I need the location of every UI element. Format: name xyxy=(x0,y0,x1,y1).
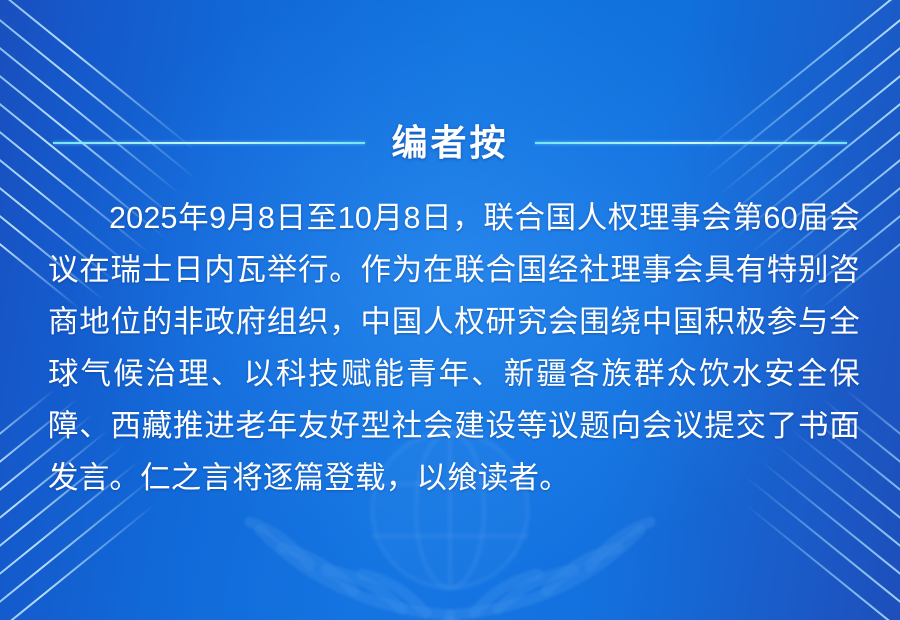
page-title: 编者按 xyxy=(391,125,508,161)
title-rule-left xyxy=(53,142,365,144)
body-paragraph: 2025年9月8日至10月8日，联合国人权理事会第60届会议在瑞士日内瓦举行。作… xyxy=(48,192,860,504)
corner-streaks-top-left xyxy=(0,0,340,210)
poster-header: 编者按 xyxy=(0,112,900,174)
editors-note-poster: 编者按 2025年9月8日至10月8日，联合国人权理事会第60届会议在瑞士日内瓦… xyxy=(0,0,900,620)
title-rule-right xyxy=(535,142,847,144)
corner-streaks-top-right xyxy=(560,0,900,210)
editors-note-body: 2025年9月8日至10月8日，联合国人权理事会第60届会议在瑞士日内瓦举行。作… xyxy=(48,192,860,504)
